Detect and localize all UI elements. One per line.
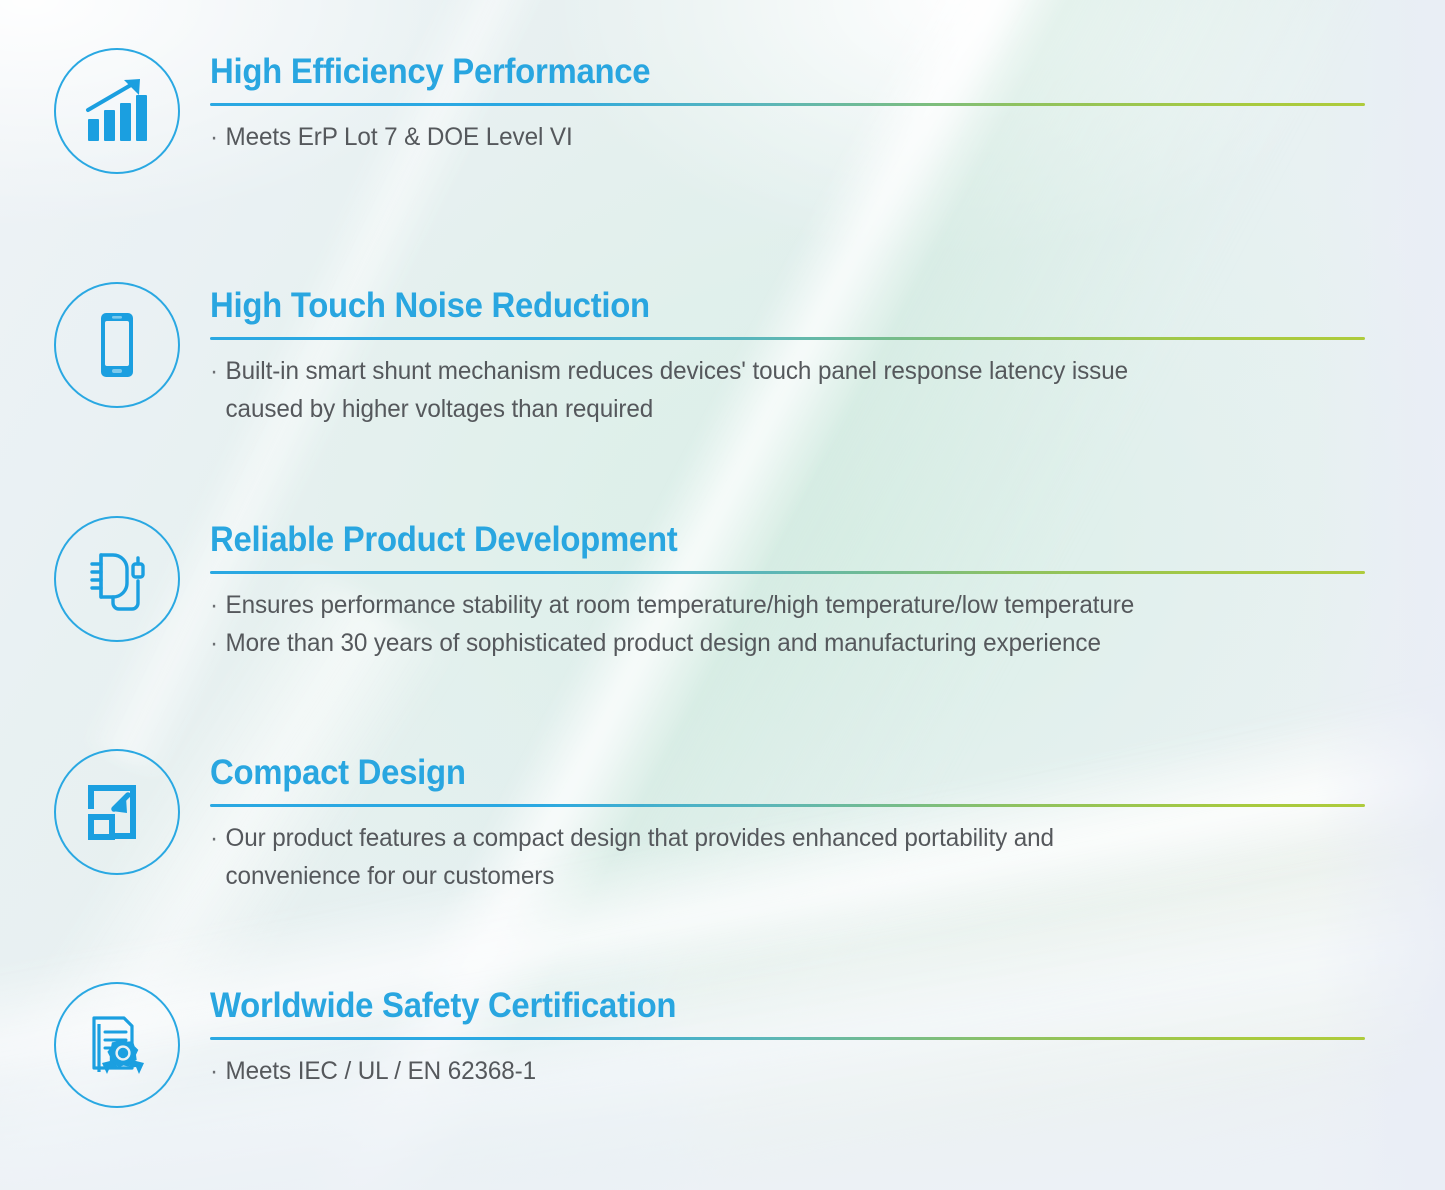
feature-content: High Efficiency Performance ·Meets ErP L… <box>210 54 1390 156</box>
feature-content: High Touch Noise Reduction ·Built-in sma… <box>210 288 1390 428</box>
feature-bullet: ·Meets IEC / UL / EN 62368-1 <box>210 1052 1355 1090</box>
bullet-marker: · <box>210 118 226 156</box>
power-adapter-icon <box>80 542 154 616</box>
feature-icon-wrap <box>54 982 180 1108</box>
bullet-text: Built-in smart shunt mechanism reduces d… <box>226 357 1128 385</box>
feature-divider <box>210 804 1365 807</box>
feature-content: Worldwide Safety Certification ·Meets IE… <box>210 988 1390 1090</box>
feature-content: Reliable Product Development ·Ensures pe… <box>210 522 1390 662</box>
feature-bullet: caused by higher voltages than required <box>210 390 1355 428</box>
bullet-text: Meets ErP Lot 7 & DOE Level VI <box>226 123 573 151</box>
feature-bullets: ·Meets IEC / UL / EN 62368-1 <box>210 1052 1390 1090</box>
feature-title: Compact Design <box>210 755 1319 792</box>
certificate-award-icon <box>80 1008 154 1082</box>
compact-resize-icon <box>80 775 154 849</box>
feature-bullet: convenience for our customers <box>210 857 1355 895</box>
feature-bullet: ·Ensures performance stability at room t… <box>210 586 1355 624</box>
bullet-marker: · <box>210 624 226 662</box>
feature-divider <box>210 1037 1365 1040</box>
feature-divider <box>210 337 1365 340</box>
bullet-marker: · <box>210 586 226 624</box>
bullet-text: caused by higher voltages than required <box>226 395 654 423</box>
feature-bullets: ·Ensures performance stability at room t… <box>210 586 1390 662</box>
feature-icon-wrap <box>54 48 180 174</box>
bullet-text: convenience for our customers <box>226 862 555 890</box>
bullet-marker: · <box>210 1052 226 1090</box>
smartphone-icon <box>80 308 154 382</box>
feature-highlights-page: High Efficiency Performance ·Meets ErP L… <box>0 0 1445 1190</box>
bar-chart-growth-icon <box>80 74 154 148</box>
feature-bullet: ·Our product features a compact design t… <box>210 819 1355 857</box>
feature-title: High Efficiency Performance <box>210 54 1319 91</box>
feature-bullets: ·Our product features a compact design t… <box>210 819 1390 895</box>
feature-icon-wrap <box>54 516 180 642</box>
feature-bullet: ·Meets ErP Lot 7 & DOE Level VI <box>210 118 1355 156</box>
feature-title: High Touch Noise Reduction <box>210 288 1319 325</box>
feature-bullets: ·Built-in smart shunt mechanism reduces … <box>210 352 1390 428</box>
bullet-text: Ensures performance stability at room te… <box>226 591 1135 619</box>
feature-icon-wrap <box>54 282 180 408</box>
bullet-marker: · <box>210 352 226 390</box>
feature-title: Worldwide Safety Certification <box>210 988 1319 1025</box>
bullet-text: Our product features a compact design th… <box>226 824 1054 852</box>
feature-icon-wrap <box>54 749 180 875</box>
feature-content: Compact Design ·Our product features a c… <box>210 755 1390 895</box>
bullet-marker: · <box>210 819 226 857</box>
bullet-text: More than 30 years of sophisticated prod… <box>226 629 1101 657</box>
feature-divider <box>210 103 1365 106</box>
bullet-text: Meets IEC / UL / EN 62368-1 <box>226 1057 537 1085</box>
feature-bullet: ·More than 30 years of sophisticated pro… <box>210 624 1355 662</box>
feature-divider <box>210 571 1365 574</box>
feature-bullets: ·Meets ErP Lot 7 & DOE Level VI <box>210 118 1390 156</box>
feature-bullet: ·Built-in smart shunt mechanism reduces … <box>210 352 1355 390</box>
feature-title: Reliable Product Development <box>210 522 1319 559</box>
